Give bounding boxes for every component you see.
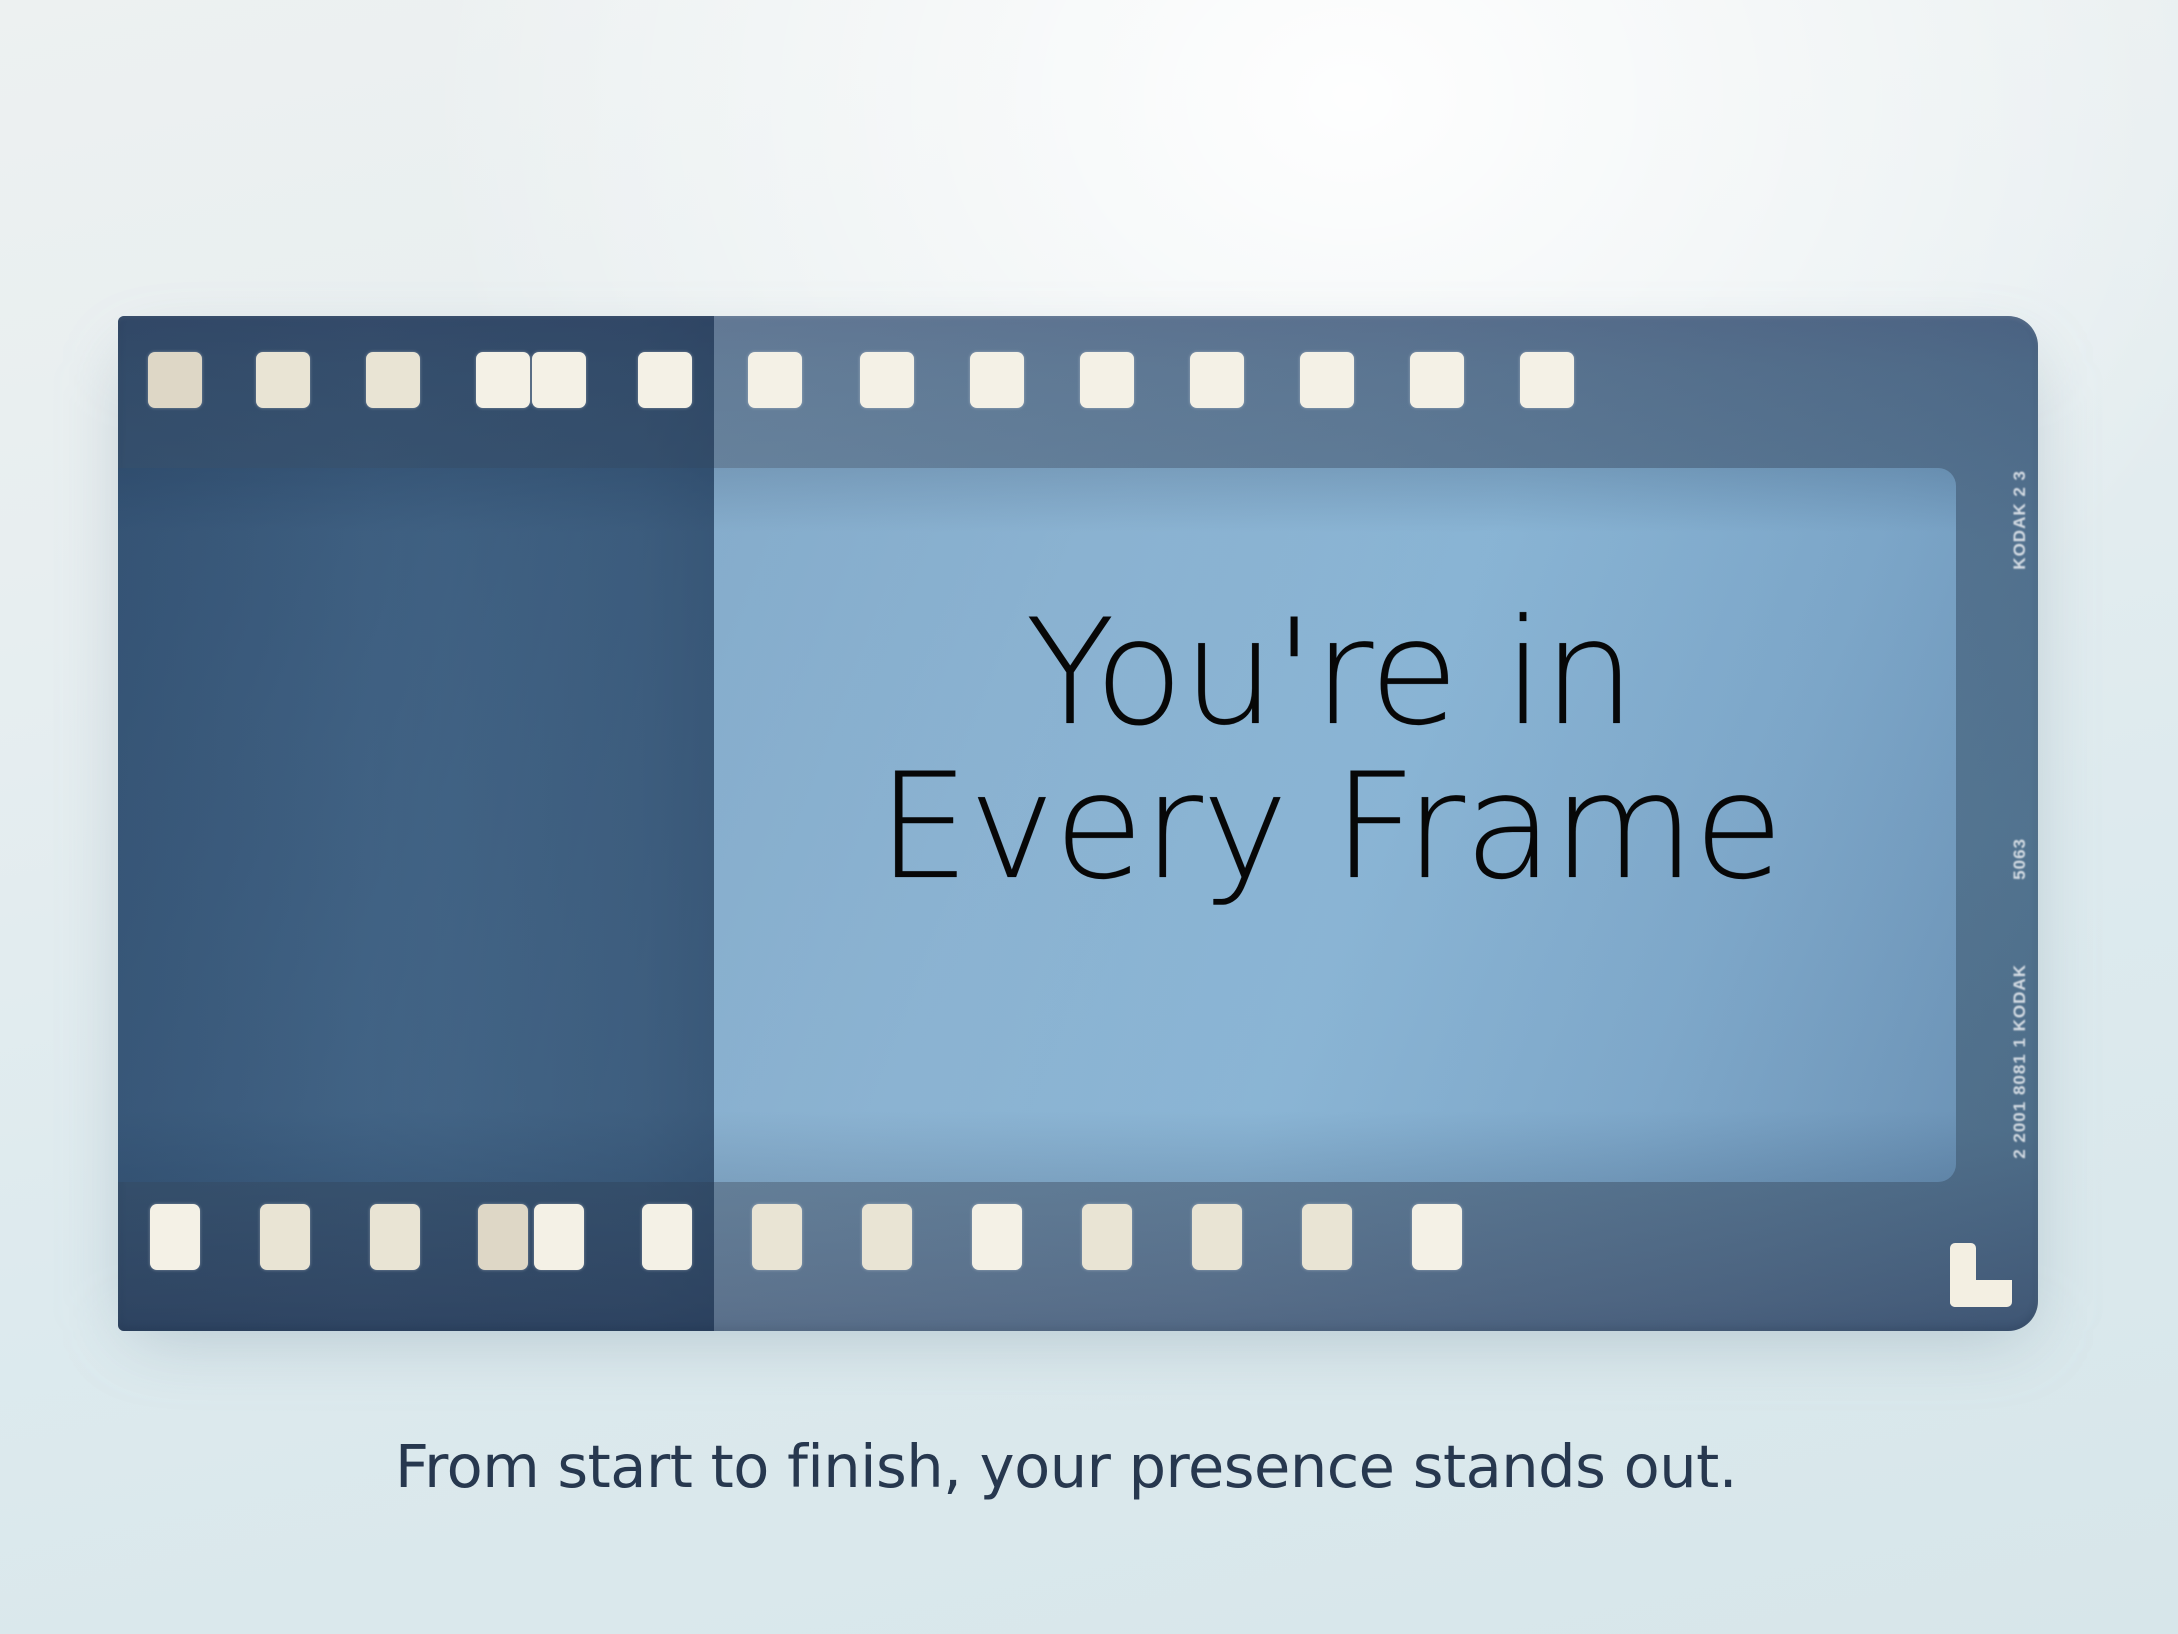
sprocket-hole [752,1204,802,1270]
film-corner-notch-icon [1950,1243,2012,1307]
sprocket-hole [1300,352,1354,408]
sprocket-hole [1410,352,1464,408]
film-edge-marking-2: 5063 [2010,838,2030,880]
sprocket-hole [638,352,692,408]
sprocket-hole [150,1204,200,1270]
sprocket-hole [1082,1204,1132,1270]
sprocket-hole [532,352,586,408]
page-title-line-1: You're in [660,600,2000,746]
sprocket-hole [478,1204,528,1270]
sprocket-hole [256,352,310,408]
sprocket-row-top [118,352,2038,444]
sprocket-hole [970,352,1024,408]
sprocket-hole [1192,1204,1242,1270]
sprocket-row-bottom [118,1204,2038,1304]
sprocket-hole [642,1204,692,1270]
sprocket-hole [862,1204,912,1270]
page-title-line-2: Every Frame [660,754,2000,900]
page-subtitle: From start to finish, your presence stan… [0,1432,2178,1501]
sprocket-hole [972,1204,1022,1270]
sprocket-hole [1520,352,1574,408]
film-edge-marking-1: KODAK 2 3 [2010,470,2030,570]
sprocket-hole [1412,1204,1462,1270]
slide-canvas: KODAK 2 3 5063 2 2001 8081 1 KODAK You'r… [0,0,2178,1634]
sprocket-hole [748,352,802,408]
sprocket-hole [1190,352,1244,408]
sprocket-hole [148,352,202,408]
page-title: You're in Every Frame [660,600,2000,900]
sprocket-hole [1302,1204,1352,1270]
film-edge-marking-3: 2 2001 8081 1 KODAK [2010,964,2030,1159]
sprocket-hole [370,1204,420,1270]
film-shadow-left-overlay [118,316,714,1331]
sprocket-hole [476,352,530,408]
sprocket-hole [1080,352,1134,408]
sprocket-hole [260,1204,310,1270]
sprocket-hole [534,1204,584,1270]
film-edge-markings: KODAK 2 3 5063 2 2001 8081 1 KODAK [1998,456,2032,1196]
sprocket-hole [366,352,420,408]
notch-horizontal-leg [1950,1280,2012,1307]
sprocket-hole [860,352,914,408]
